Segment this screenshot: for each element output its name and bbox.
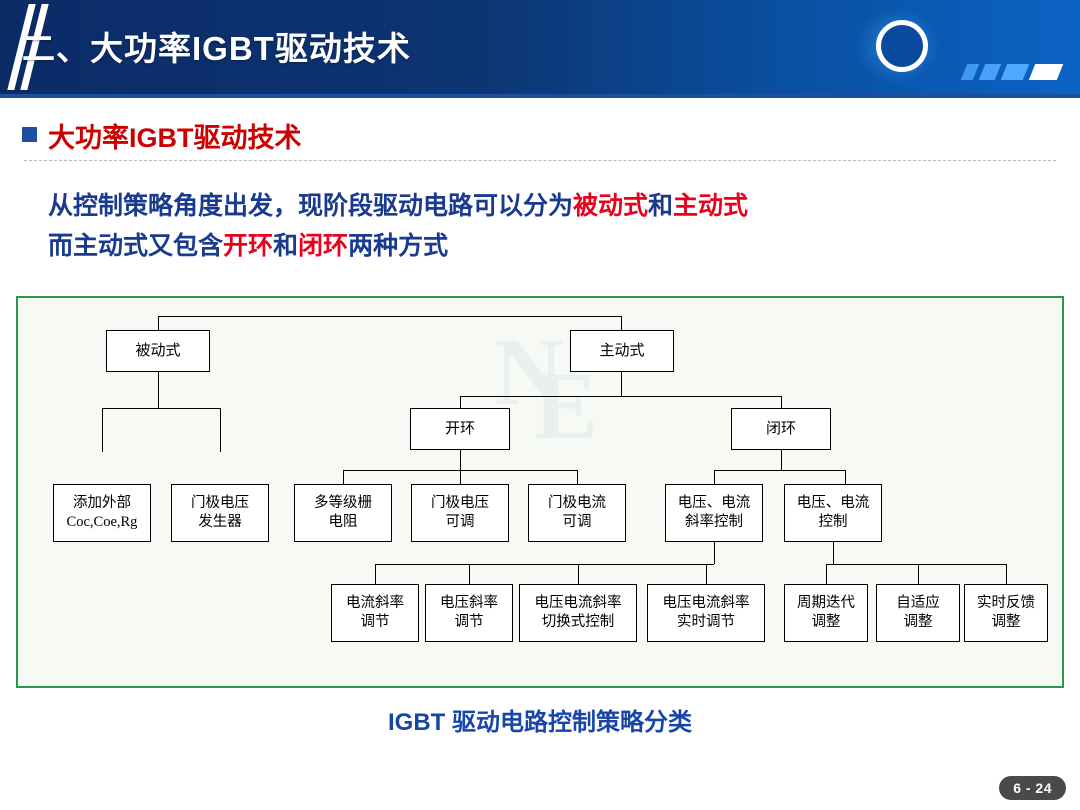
connector	[375, 564, 376, 584]
connector	[577, 470, 578, 484]
description-paragraph: 从控制策略角度出发，现阶段驱动电路可以分为被动式和主动式 而主动式又包含开环和闭…	[48, 186, 1048, 266]
section-heading-label: 大功率IGBT驱动技术	[48, 116, 302, 155]
page-title: 二、大功率IGBT驱动技术	[22, 22, 411, 70]
diagram-panel: N E 被动式 主动式 开环 闭环	[16, 296, 1064, 688]
heading-divider	[24, 160, 1056, 161]
node-active: 主动式	[570, 330, 674, 372]
node-passive: 被动式	[106, 330, 210, 372]
node-voltage-current-slope-control: 电压、电流 斜率控制	[665, 484, 763, 542]
paragraph-line-1: 从控制策略角度出发，现阶段驱动电路可以分为被动式和主动式	[48, 186, 1048, 226]
slide-body: 大功率IGBT驱动技术 从控制策略角度出发，现阶段驱动电路可以分为被动式和主动式…	[0, 98, 1080, 810]
connector	[714, 542, 715, 564]
connector	[158, 316, 159, 330]
paragraph-text: 和	[648, 192, 673, 220]
connector	[781, 396, 782, 408]
connector	[375, 564, 714, 565]
connector	[826, 564, 827, 584]
node-gate-voltage-generator: 门极电压 发生器	[171, 484, 269, 542]
connector	[714, 470, 715, 484]
connector	[845, 470, 846, 484]
node-closed-loop: 闭环	[731, 408, 831, 450]
paragraph-line-2: 而主动式又包含开环和闭环两种方式	[48, 226, 1048, 266]
node-multi-level-gate-resistor: 多等级栅 电阻	[294, 484, 392, 542]
connector	[469, 564, 470, 584]
node-periodic-iterative-adjust: 周期迭代 调整	[784, 584, 868, 642]
paragraph-text: 两种方式	[348, 232, 448, 260]
highlight-closed-loop: 闭环	[298, 232, 348, 260]
node-adaptive-adjust: 自适应 调整	[876, 584, 960, 642]
paragraph-text: 和	[273, 232, 298, 260]
connector	[621, 372, 622, 396]
connector	[158, 372, 159, 408]
connector	[460, 396, 782, 397]
connector	[102, 408, 103, 452]
connector	[460, 470, 461, 484]
section-heading: 大功率IGBT驱动技术	[22, 116, 302, 155]
diagram-caption: IGBT 驱动电路控制策略分类	[16, 702, 1064, 737]
header-circle-icon	[876, 20, 928, 72]
connector	[578, 564, 579, 584]
connector	[833, 542, 834, 564]
connector	[460, 450, 461, 470]
node-realtime-feedback-adjust: 实时反馈 调整	[964, 584, 1048, 642]
node-voltage-current-control: 电压、电流 控制	[784, 484, 882, 542]
connector	[102, 408, 220, 409]
highlight-open-loop: 开环	[223, 232, 273, 260]
connector	[158, 316, 622, 317]
node-voltage-current-slope-realtime-adjust: 电压电流斜率 实时调节	[647, 584, 765, 642]
header-chevron-icon	[942, 64, 1062, 86]
bullet-square-icon	[22, 127, 37, 142]
slide-header: 二、大功率IGBT驱动技术	[0, 0, 1080, 94]
node-gate-current-adjustable: 门极电流 可调	[528, 484, 626, 542]
paragraph-text: 而主动式又包含	[48, 232, 223, 260]
node-voltage-slope-adjust: 电压斜率 调节	[425, 584, 513, 642]
connector	[621, 316, 622, 330]
connector	[714, 470, 845, 471]
connector	[826, 564, 1007, 565]
node-voltage-current-slope-switch-control: 电压电流斜率 切换式控制	[519, 584, 637, 642]
connector	[918, 564, 919, 584]
node-current-slope-adjust: 电流斜率 调节	[331, 584, 419, 642]
highlight-active: 主动式	[673, 192, 748, 220]
node-gate-voltage-adjustable: 门极电压 可调	[411, 484, 509, 542]
page-number-badge: 6 - 24	[999, 776, 1066, 800]
connector	[706, 564, 707, 584]
highlight-passive: 被动式	[573, 192, 648, 220]
connector	[220, 408, 221, 452]
node-open-loop: 开环	[410, 408, 510, 450]
connector	[781, 450, 782, 470]
paragraph-text: 从控制策略角度出发，现阶段驱动电路可以分为	[48, 192, 573, 220]
connector	[460, 396, 461, 408]
connector	[343, 470, 344, 484]
connector	[1006, 564, 1007, 584]
node-add-external: 添加外部 Coc,Coe,Rg	[53, 484, 151, 542]
